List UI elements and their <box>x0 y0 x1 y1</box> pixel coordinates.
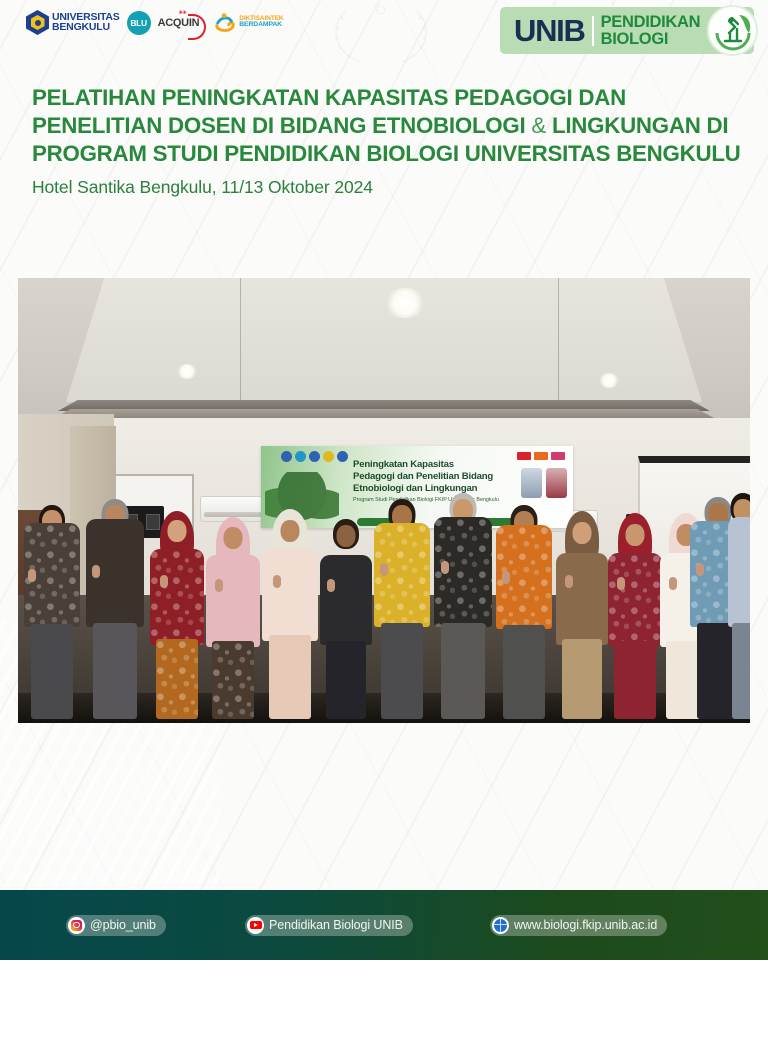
group-photo-scene: Peningkatan Kapasitas Pedagogi dan Penel… <box>18 278 750 723</box>
participants-row <box>18 473 750 723</box>
footer-contact-bar: @pbio_unib Pendidikan Biologi UNIB www.b… <box>0 890 768 960</box>
universitas-bengkulu-logo: UNIVERSITAS BENGKULU <box>26 10 120 35</box>
participant-torso <box>262 549 318 641</box>
participant-torso <box>728 517 750 627</box>
thumbs-up-hand <box>92 565 100 578</box>
instagram-icon <box>68 917 85 934</box>
participant-legs <box>31 624 74 719</box>
thumbs-up-hand <box>565 575 573 588</box>
microscope-badge <box>707 5 758 56</box>
participant-torso <box>206 555 260 647</box>
participant-face <box>224 527 243 549</box>
ceiling-downlight <box>383 288 427 318</box>
group-photo: Peningkatan Kapasitas Pedagogi dan Penel… <box>18 278 750 723</box>
participant-face <box>626 524 645 546</box>
page-title: PELATIHAN PENINGKATAN KAPASITAS PEDAGOGI… <box>32 84 748 168</box>
diktisaintek-berdampak-logo: DIKTISAINTEK BERDAMPAK <box>214 12 283 34</box>
pendidikan-biologi-brand-lockup: UNIB PENDIDIKAN BIOLOGI <box>500 7 754 54</box>
participant-torso <box>150 549 204 645</box>
participant <box>728 493 750 719</box>
event-venue-date: Hotel Santika Bengkulu, 11/13 Oktober 20… <box>32 177 748 198</box>
header-logo-bar: UNIVERSITAS BENGKULU BLU ✳✳ ACQUIN DIKTI… <box>0 0 768 62</box>
brand-divider <box>592 16 594 46</box>
globe-icon <box>492 917 509 934</box>
participant-skirt <box>156 639 197 719</box>
brand-line2: BIOLOGI <box>601 31 701 48</box>
participant-face <box>168 520 187 542</box>
thumbs-up-hand <box>669 577 677 590</box>
participant <box>496 505 552 719</box>
website-badge[interactable]: www.biologi.fkip.unib.ac.id <box>490 915 667 936</box>
participant <box>374 499 430 719</box>
participant <box>24 505 80 719</box>
thumbs-up-hand <box>502 571 510 584</box>
acquin-spark-icon: ✳✳ <box>179 11 187 16</box>
thumbs-up-hand <box>160 575 168 588</box>
acquin-logo: ✳✳ ACQUIN <box>158 17 200 29</box>
blu-logo: BLU <box>127 11 151 35</box>
participant-torso <box>320 555 372 645</box>
instagram-badge[interactable]: @pbio_unib <box>66 915 166 936</box>
acquin-arc-icon <box>188 14 206 40</box>
microscope-icon <box>711 9 755 53</box>
thumbs-up-hand <box>215 579 223 592</box>
diktisaintek-mark-icon <box>214 12 236 34</box>
participant <box>206 517 260 719</box>
thumbs-up-hand <box>273 575 281 588</box>
participant-face <box>573 522 592 544</box>
ceiling-seam <box>240 278 241 406</box>
participant-skirt <box>326 641 366 719</box>
participant <box>434 493 492 719</box>
thumbs-up-hand <box>327 579 335 592</box>
participant-torso <box>556 553 608 645</box>
thumbs-up-hand <box>617 577 625 590</box>
partner-logo-row: UNIVERSITAS BENGKULU BLU ✳✳ ACQUIN DIKTI… <box>26 10 284 35</box>
participant <box>608 513 662 719</box>
participant-skirt <box>269 635 312 719</box>
thumbs-up-hand <box>696 563 704 576</box>
participant-face <box>281 520 300 542</box>
participant-legs <box>732 623 750 719</box>
ceiling-cornice-lower <box>54 409 714 418</box>
participant-torso <box>608 553 662 647</box>
ceiling-downlight <box>598 373 620 388</box>
youtube-channel: Pendidikan Biologi UNIB <box>269 918 403 932</box>
brand-unib-text: UNIB <box>514 15 585 46</box>
unib-crest-icon <box>26 10 49 35</box>
participant-face <box>337 525 356 547</box>
participant-skirt <box>562 639 602 719</box>
unib-logo-line2: BENGKULU <box>52 23 120 33</box>
participant <box>86 499 144 719</box>
participant-legs <box>441 623 485 719</box>
youtube-icon <box>247 917 264 934</box>
participant <box>262 509 318 719</box>
participant <box>556 511 608 719</box>
banner-logo-strip <box>281 451 348 462</box>
headline-block: PELATIHAN PENINGKATAN KAPASITAS PEDAGOGI… <box>32 84 748 198</box>
instagram-handle: @pbio_unib <box>90 918 156 932</box>
participant-legs <box>381 623 424 719</box>
thumbs-up-hand <box>380 563 388 576</box>
youtube-badge[interactable]: Pendidikan Biologi UNIB <box>245 915 413 936</box>
participant-legs <box>503 625 546 719</box>
brand-line1: PENDIDIKAN <box>601 14 701 31</box>
participant-skirt <box>212 641 253 719</box>
participant <box>320 519 372 719</box>
website-url: www.biologi.fkip.unib.ac.id <box>514 918 657 932</box>
thumbs-up-hand <box>441 561 449 574</box>
thumbs-up-hand <box>28 569 36 582</box>
participant-skirt <box>614 641 655 719</box>
diktisaintek-line2: BERDAMPAK <box>239 22 283 29</box>
ceiling-downlight <box>176 364 198 379</box>
participant-legs <box>93 623 137 719</box>
page-title-ampersand: & <box>531 113 546 138</box>
ceiling-seam <box>558 278 559 408</box>
participant <box>150 511 204 719</box>
